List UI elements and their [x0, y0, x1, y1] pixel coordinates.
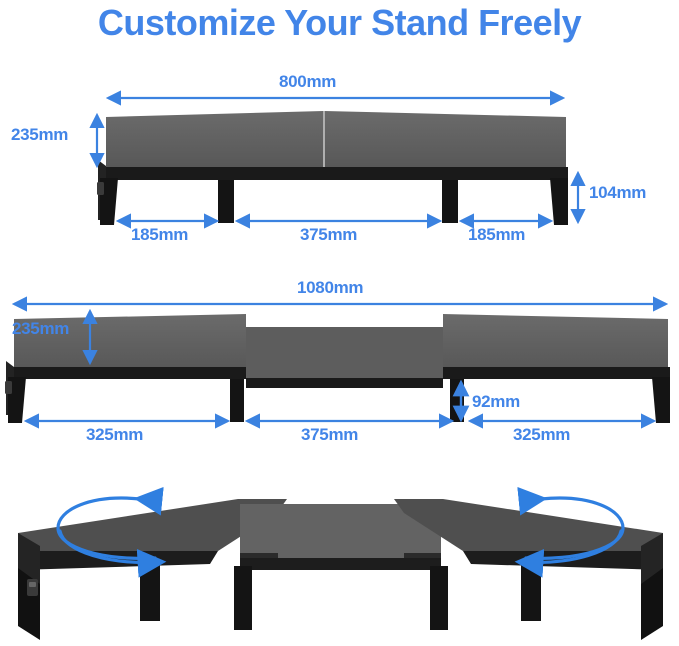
label-height: 104mm: [589, 183, 646, 203]
stand-leg-center-left: [234, 566, 252, 630]
stand-front-edge-left: [12, 367, 246, 379]
label-span-center: 375mm: [300, 225, 357, 245]
usb-port-slot: [29, 582, 36, 587]
stand-top-left-panel: [106, 111, 323, 167]
usb-port-icon: [27, 579, 38, 596]
usb-port-icon: [97, 182, 104, 195]
figure-compact-configuration: 800mm 235mm 104mm 185mm 375mm 185mm: [0, 70, 679, 265]
stand-top-right-panel: [443, 314, 668, 371]
label-span-right: 185mm: [468, 225, 525, 245]
label-span-center: 375mm: [301, 425, 358, 445]
label-total-width: 1080mm: [297, 278, 363, 298]
stand-front-edge-center: [246, 378, 443, 388]
label-height: 92mm: [472, 392, 520, 412]
figure-angled-configuration: [0, 458, 679, 646]
stand-leg-4: [652, 377, 670, 423]
page-title: Customize Your Stand Freely: [0, 2, 679, 44]
stand-front-edge-center: [240, 558, 441, 570]
stand-top-center-panel: [246, 327, 443, 378]
stand-top-right-panel: [325, 111, 566, 167]
label-depth: 235mm: [12, 319, 69, 339]
stand-leg-2: [218, 180, 234, 223]
angled-stand-illustration: [0, 458, 679, 646]
label-depth: 235mm: [11, 125, 68, 145]
stand-leg-2: [230, 379, 244, 422]
label-span-right: 325mm: [513, 425, 570, 445]
stand-leg-4: [550, 178, 568, 225]
label-span-left: 325mm: [86, 425, 143, 445]
figure-extended-configuration: 1080mm 235mm 92mm 325mm 375mm 325mm: [0, 275, 679, 455]
label-total-width: 800mm: [279, 72, 336, 92]
stand-leg-3: [442, 180, 458, 223]
usb-port-icon: [5, 381, 12, 394]
stand-front-edge: [104, 167, 568, 180]
label-span-left: 185mm: [131, 225, 188, 245]
stand-leg-left: [140, 564, 160, 621]
stand-leg-center-right: [430, 566, 448, 630]
stand-front-edge-right: [443, 367, 670, 379]
stand-leg-right: [521, 564, 541, 621]
infographic-page: Customize Your Stand Freely: [0, 0, 679, 646]
